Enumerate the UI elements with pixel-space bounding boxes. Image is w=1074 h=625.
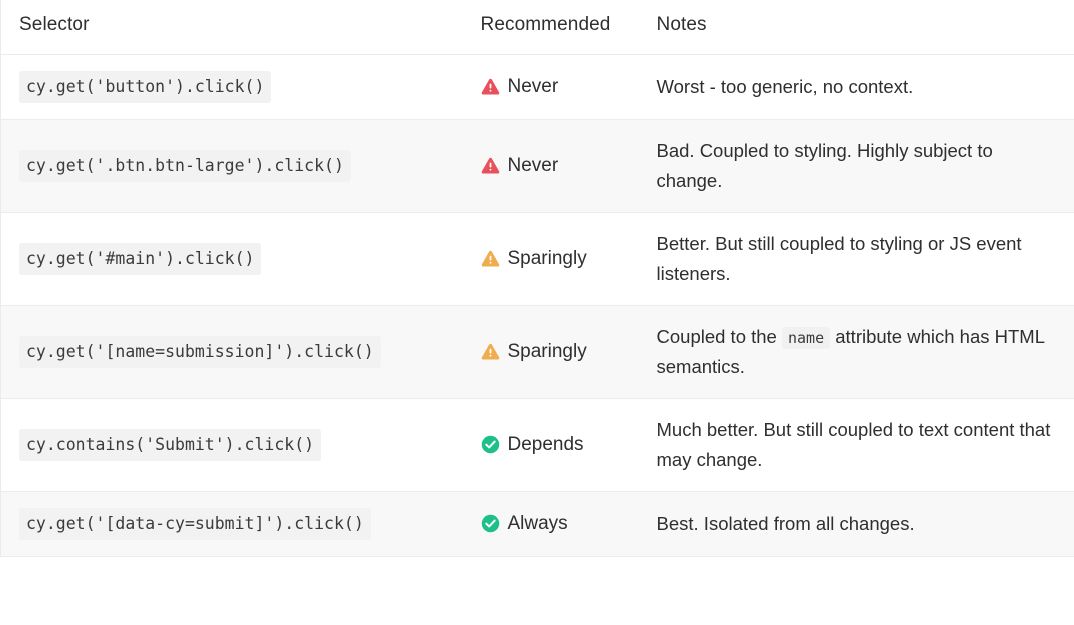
cell-selector: cy.contains('Submit').click() [1, 398, 469, 491]
selector-best-practices-table: Selector Recommended Notes cy.get('butto… [0, 0, 1074, 557]
cell-recommended: Sparingly [469, 212, 647, 305]
selector-best-practices-table-container: Selector Recommended Notes cy.get('butto… [0, 0, 1074, 625]
table-row: cy.get('button').click()NeverWorst - too… [1, 55, 1074, 120]
recommendation-badge: Never [481, 155, 639, 177]
notes-text-fragment: Coupled to the [657, 326, 782, 347]
cell-recommended: Always [469, 491, 647, 556]
table-body: cy.get('button').click()NeverWorst - too… [1, 55, 1074, 557]
cell-selector: cy.get('#main').click() [1, 212, 469, 305]
recommendation-label: Sparingly [508, 248, 587, 270]
column-header-notes: Notes [647, 0, 1074, 55]
table-row: cy.get('[data-cy=submit]').click()Always… [1, 491, 1074, 556]
column-header-recommended: Recommended [469, 0, 647, 55]
table-row: cy.get('.btn.btn-large').click()NeverBad… [1, 119, 1074, 212]
warning-triangle-icon [481, 77, 500, 96]
notes-text: Bad. Coupled to styling. Highly subject … [657, 136, 1053, 196]
cell-notes: Coupled to the name attribute which has … [647, 305, 1074, 398]
recommendation-badge: Depends [481, 434, 639, 456]
recommendation-label: Never [508, 76, 559, 98]
notes-text-fragment: Much better. But still coupled to text c… [657, 419, 1051, 470]
warning-triangle-icon [481, 156, 500, 175]
selector-code-snippet: cy.contains('Submit').click() [19, 429, 321, 461]
recommendation-badge: Always [481, 513, 639, 535]
table-header: Selector Recommended Notes [1, 0, 1074, 55]
cell-notes: Best. Isolated from all changes. [647, 491, 1074, 556]
warning-triangle-icon [481, 342, 500, 361]
selector-code-snippet: cy.get('[name=submission]').click() [19, 336, 381, 368]
cell-notes: Better. But still coupled to styling or … [647, 212, 1074, 305]
notes-text-fragment: Best. Isolated from all changes. [657, 513, 915, 534]
notes-text-fragment: Better. But still coupled to styling or … [657, 233, 1022, 284]
cell-recommended: Depends [469, 398, 647, 491]
cell-notes: Much better. But still coupled to text c… [647, 398, 1074, 491]
warning-triangle-icon [481, 249, 500, 268]
selector-code-snippet: cy.get('#main').click() [19, 243, 261, 275]
cell-recommended: Never [469, 119, 647, 212]
selector-code-snippet: cy.get('.btn.btn-large').click() [19, 150, 351, 182]
notes-text: Coupled to the name attribute which has … [657, 322, 1053, 382]
cell-selector: cy.get('.btn.btn-large').click() [1, 119, 469, 212]
table-row: cy.contains('Submit').click()DependsMuch… [1, 398, 1074, 491]
cell-recommended: Sparingly [469, 305, 647, 398]
selector-code-snippet: cy.get('[data-cy=submit]').click() [19, 508, 371, 540]
cell-recommended: Never [469, 55, 647, 120]
notes-text: Better. But still coupled to styling or … [657, 229, 1053, 289]
cell-notes: Bad. Coupled to styling. Highly subject … [647, 119, 1074, 212]
recommendation-label: Depends [508, 434, 584, 456]
notes-text-fragment: Bad. Coupled to styling. Highly subject … [657, 140, 993, 191]
recommendation-label: Never [508, 155, 559, 177]
selector-code-snippet: cy.get('button').click() [19, 71, 271, 103]
notes-text: Worst - too generic, no context. [657, 72, 1053, 102]
table-row: cy.get('#main').click()SparinglyBetter. … [1, 212, 1074, 305]
notes-text: Best. Isolated from all changes. [657, 509, 1053, 539]
notes-text-fragment: Worst - too generic, no context. [657, 76, 914, 97]
recommendation-label: Always [508, 513, 568, 535]
recommendation-label: Sparingly [508, 341, 587, 363]
check-circle-icon [481, 514, 500, 533]
check-circle-icon [481, 435, 500, 454]
notes-text: Much better. But still coupled to text c… [657, 415, 1053, 475]
recommendation-badge: Sparingly [481, 248, 639, 270]
recommendation-badge: Sparingly [481, 341, 639, 363]
table-row: cy.get('[name=submission]').click()Spari… [1, 305, 1074, 398]
column-header-selector: Selector [1, 0, 469, 55]
cell-notes: Worst - too generic, no context. [647, 55, 1074, 120]
recommendation-badge: Never [481, 76, 639, 98]
cell-selector: cy.get('[data-cy=submit]').click() [1, 491, 469, 556]
table-header-row: Selector Recommended Notes [1, 0, 1074, 55]
cell-selector: cy.get('[name=submission]').click() [1, 305, 469, 398]
inline-code-chip: name [782, 327, 830, 349]
cell-selector: cy.get('button').click() [1, 55, 469, 120]
